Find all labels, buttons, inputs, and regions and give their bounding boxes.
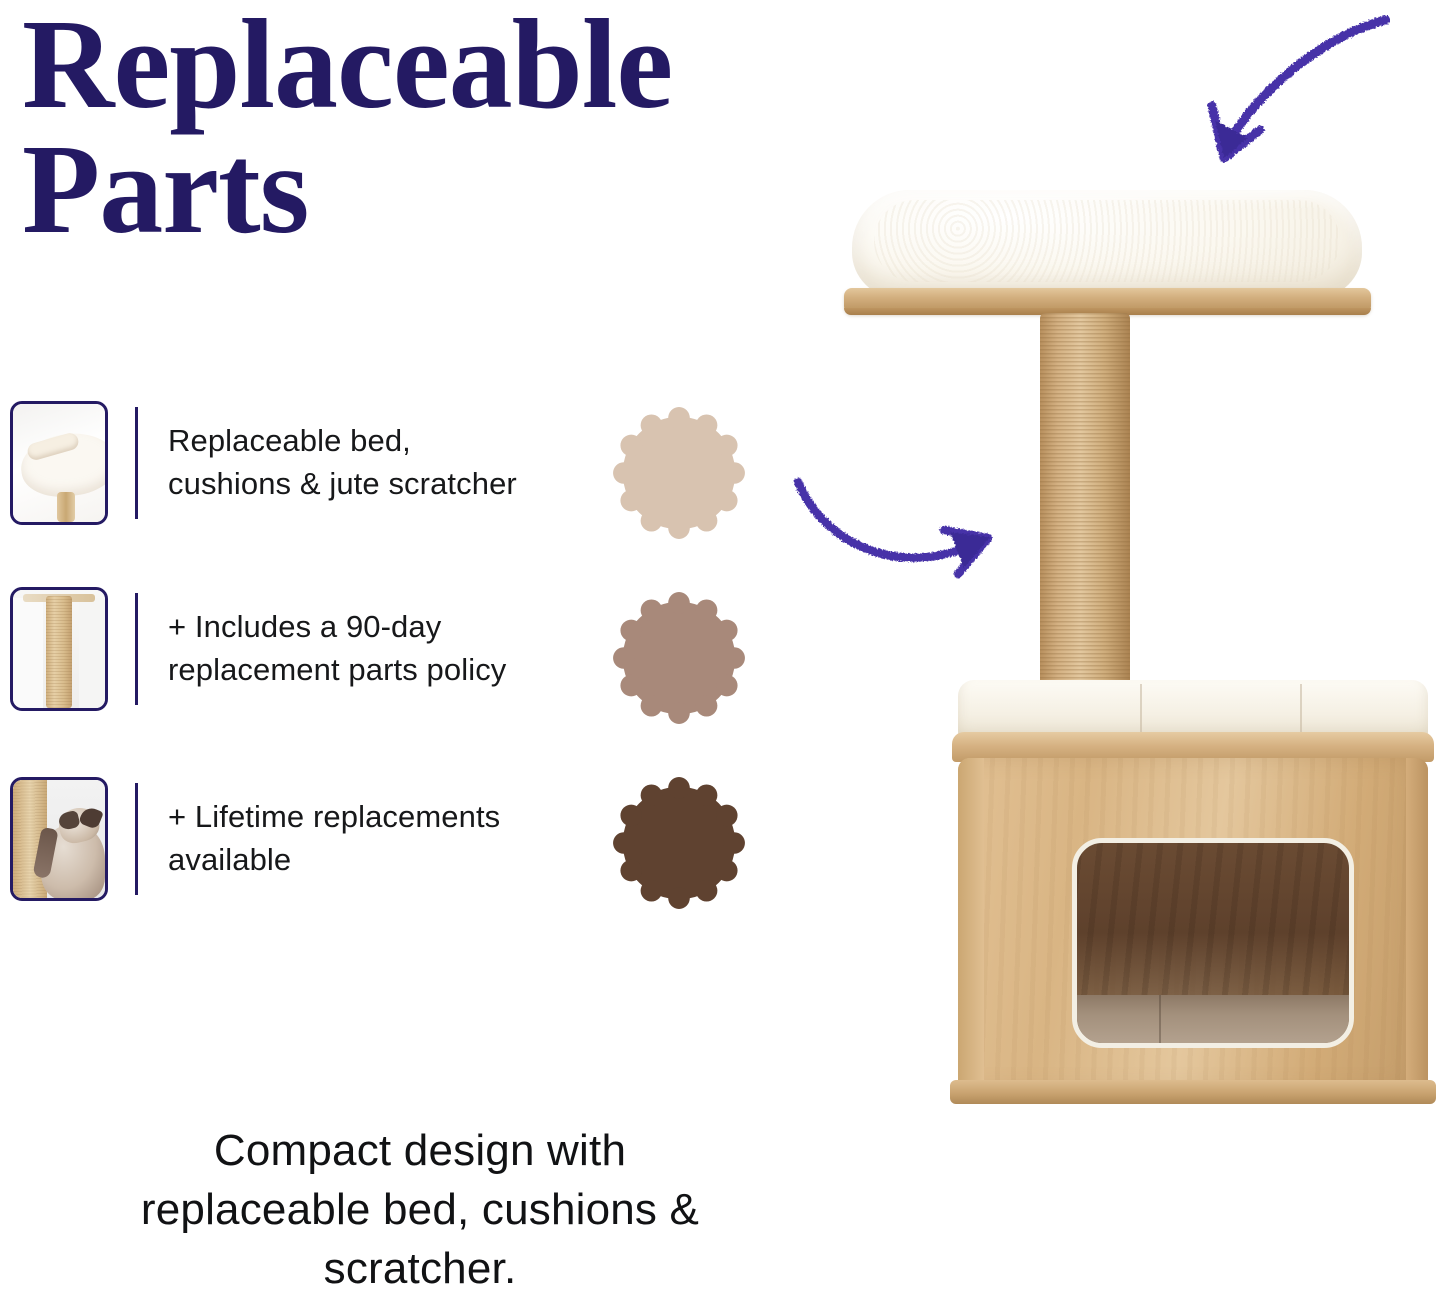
arrow-to-bed — [1140, 8, 1390, 183]
feature-text: + Includes a 90-day replacement parts po… — [168, 606, 506, 692]
scallop-shape-icon — [604, 398, 754, 548]
cabinet-base-plinth — [950, 1080, 1436, 1104]
scallop-shape-icon — [604, 583, 754, 733]
feature-divider — [135, 407, 138, 519]
cushion-seam — [1300, 684, 1302, 736]
thumbnail-image — [13, 780, 105, 898]
bed-cushion-thumbnail — [10, 401, 108, 525]
cat-tree-photo — [840, 180, 1440, 1120]
jute-post-thumbnail — [10, 587, 108, 711]
cabinet-entry-opening — [1072, 838, 1354, 1048]
page-title: Replaceable Parts — [22, 2, 802, 253]
feature-row: Replaceable bed, cushions & jute scratch… — [10, 398, 517, 528]
thumbnail-image — [13, 404, 105, 522]
page-title-line-2: Parts — [22, 127, 802, 252]
panel-left-shape — [13, 598, 43, 708]
wood-leg-shape — [57, 492, 75, 522]
page-title-line-1: Replaceable — [22, 2, 802, 127]
feature-divider — [135, 593, 138, 705]
cat-scratching-thumbnail — [10, 777, 108, 901]
interior-cushion — [1073, 995, 1354, 1043]
scallop-badge-dark — [604, 768, 754, 918]
jute-scratching-post — [1040, 313, 1130, 733]
curved-arrow-icon — [1140, 8, 1390, 183]
bottom-caption: Compact design with replaceable bed, cus… — [20, 1122, 820, 1299]
feature-row: + Includes a 90-day replacement parts po… — [10, 584, 506, 714]
scallop-badge-mid — [604, 583, 754, 733]
jute-column-shape — [46, 596, 72, 708]
thumbnail-image — [13, 590, 105, 708]
scallop-badge-light — [604, 398, 754, 548]
cushion-seam — [1140, 684, 1142, 736]
feature-divider — [135, 783, 138, 895]
top-bed-cushion — [852, 190, 1362, 298]
panel-right-shape — [79, 598, 105, 708]
scallop-shape-icon — [604, 768, 754, 918]
feature-row: + Lifetime replacements available — [10, 774, 500, 904]
feature-text: Replaceable bed, cushions & jute scratch… — [168, 420, 517, 506]
feature-text: + Lifetime replacements available — [168, 796, 500, 882]
